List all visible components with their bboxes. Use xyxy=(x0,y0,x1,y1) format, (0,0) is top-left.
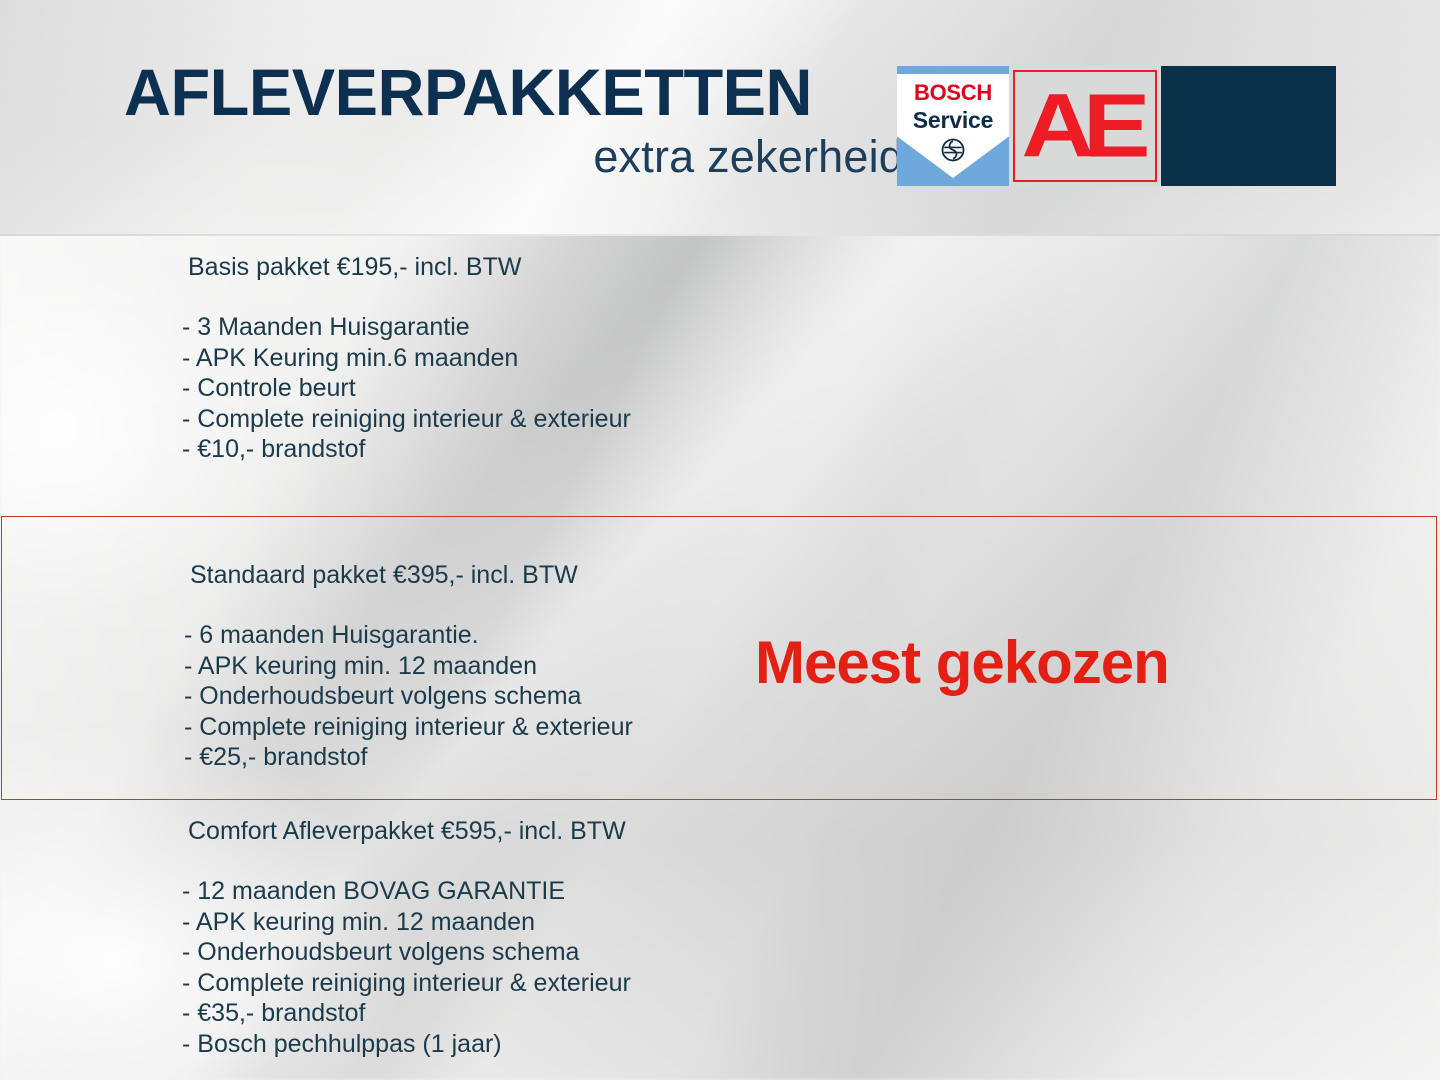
page-subtitle: extra zekerheid xyxy=(593,131,904,183)
list-item: - Controle beurt xyxy=(182,373,631,404)
package-comfort: Comfort Afleverpakket €595,- incl. BTW -… xyxy=(188,815,631,1059)
list-item: - 12 maanden BOVAG GARANTIE xyxy=(182,876,631,907)
list-item: - €35,- brandstof xyxy=(182,998,631,1029)
list-item: - Onderhoudsbeurt volgens schema xyxy=(184,681,633,712)
list-item: - €25,- brandstof xyxy=(184,742,633,773)
page-title: AFLEVERPAKKETTEN xyxy=(124,57,812,127)
list-item: - Complete reiniging interieur & exterie… xyxy=(184,712,633,743)
bosch-armature-icon xyxy=(941,138,965,162)
list-item: - Complete reiniging interieur & exterie… xyxy=(182,968,631,999)
slide-root: AFLEVERPAKKETTEN extra zekerheid BOSCH S… xyxy=(0,0,1440,1080)
most-chosen-label: Meest gekozen xyxy=(755,628,1169,698)
package-basis-features: - 3 Maanden Huisgarantie - APK Keuring m… xyxy=(182,312,631,465)
list-item: - APK keuring min. 12 maanden xyxy=(182,907,631,938)
list-item: - Onderhoudsbeurt volgens schema xyxy=(182,937,631,968)
ae-wordmark: AE xyxy=(1022,81,1149,171)
package-comfort-title: Comfort Afleverpakket €595,- incl. BTW xyxy=(188,815,631,847)
list-item: - €10,- brandstof xyxy=(182,434,631,465)
bosch-service-wordmark: Service xyxy=(897,107,1009,134)
list-item: - Complete reiniging interieur & exterie… xyxy=(182,404,631,435)
list-item: - 3 Maanden Huisgarantie xyxy=(182,312,631,343)
package-basis-title: Basis pakket €195,- incl. BTW xyxy=(188,251,631,283)
ae-logo: AE xyxy=(1009,66,1161,186)
list-item: - APK Keuring min.6 maanden xyxy=(182,343,631,374)
list-item: - APK keuring min. 12 maanden xyxy=(184,651,633,682)
package-standaard-title: Standaard pakket €395,- incl. BTW xyxy=(190,559,633,591)
package-standaard: Standaard pakket €395,- incl. BTW - 6 ma… xyxy=(190,559,633,773)
package-standaard-features: - 6 maanden Huisgarantie. - APK keuring … xyxy=(184,620,633,773)
bosch-service-logo: BOSCH Service xyxy=(897,66,1009,186)
list-item: - Bosch pechhulppas (1 jaar) xyxy=(182,1029,631,1060)
navy-logo-block xyxy=(1161,66,1336,186)
logo-strip: BOSCH Service AE xyxy=(897,66,1336,186)
title-lockup: AFLEVERPAKKETTEN extra zekerheid xyxy=(124,57,904,187)
package-comfort-features: - 12 maanden BOVAG GARANTIE - APK keurin… xyxy=(182,876,631,1059)
bosch-wordmark: BOSCH xyxy=(897,80,1009,106)
package-basis: Basis pakket €195,- incl. BTW - 3 Maande… xyxy=(188,251,631,465)
list-item: - 6 maanden Huisgarantie. xyxy=(184,620,633,651)
